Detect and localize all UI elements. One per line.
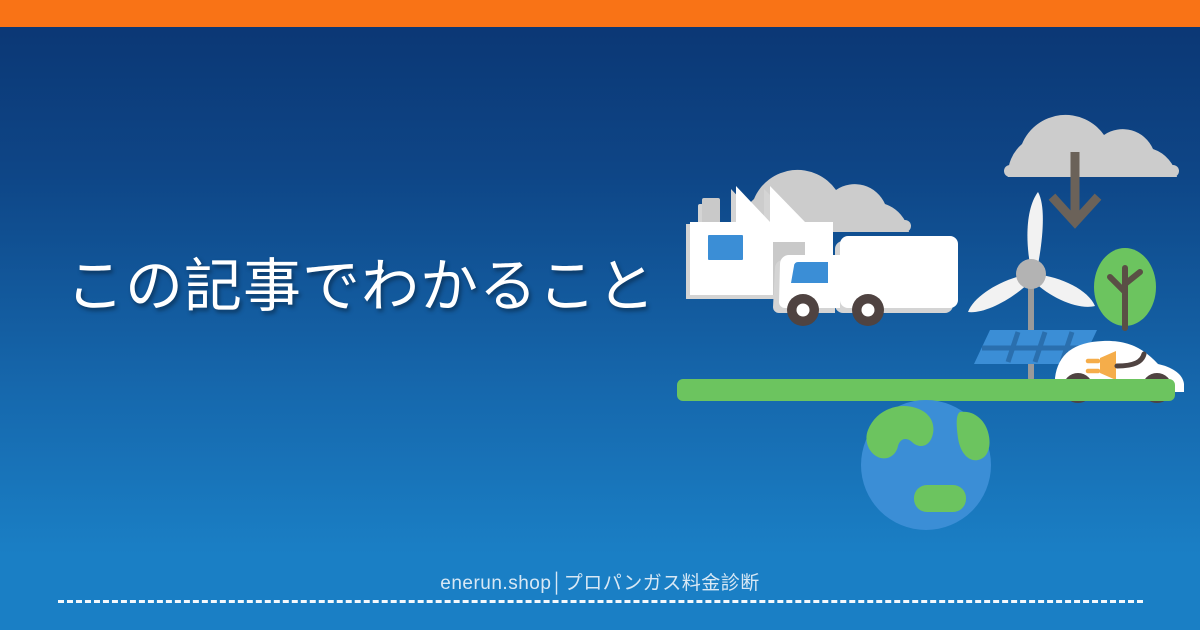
tree-icon <box>1094 248 1156 328</box>
page-title: この記事でわかること <box>66 252 666 323</box>
truck-windshield <box>791 262 828 283</box>
slide-canvas: この記事でわかること <box>0 0 1200 630</box>
truck-cargo <box>840 236 958 308</box>
globe-icon <box>861 400 991 530</box>
ground-bar <box>677 379 1175 401</box>
turbine-hub <box>1016 259 1046 289</box>
factory-window <box>708 235 743 260</box>
footer-caption-text: enerun.shop│プロパンガス料金診断 <box>426 568 773 595</box>
footer-caption: enerun.shop│プロパンガス料金診断 <box>0 568 1200 595</box>
eco-energy-illustration <box>660 80 1200 550</box>
top-accent-bar <box>0 0 1200 27</box>
footer-divider <box>58 600 1143 603</box>
cloud-absorption-icon <box>1004 115 1179 222</box>
